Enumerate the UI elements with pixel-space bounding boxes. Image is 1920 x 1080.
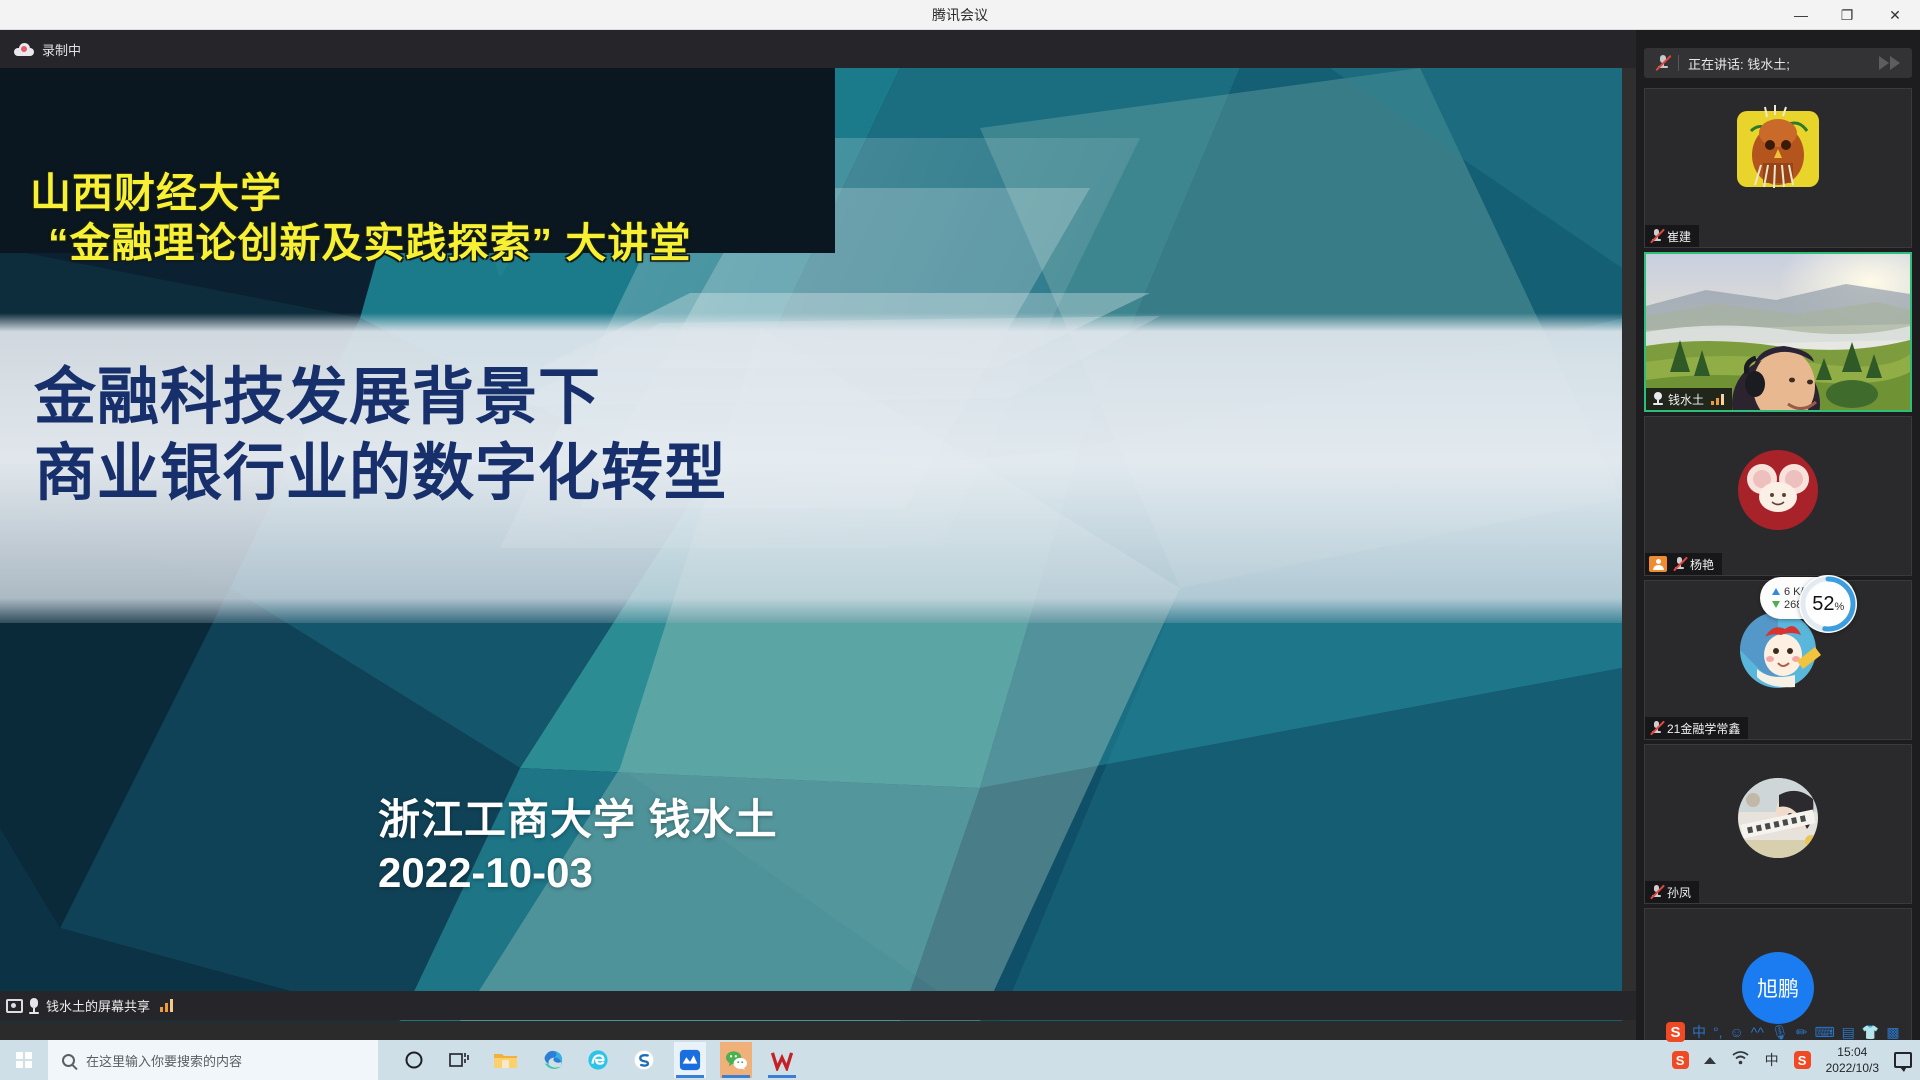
toolbox-icon[interactable]: ▩ [1886, 1025, 1899, 1039]
slide-title-line1: 金融科技发展背景下 [34, 363, 601, 432]
microphone-icon [27, 998, 41, 1014]
avatar [1645, 89, 1911, 247]
participant-tile[interactable]: 崔建 [1644, 88, 1912, 248]
cortana-icon[interactable] [398, 1042, 430, 1078]
participant-badge: 21金融学常鑫 [1645, 717, 1748, 739]
slide-title-line2: 商业银行业的数字化转型 [34, 436, 1134, 512]
windows-logo-icon [16, 1052, 32, 1068]
active-speaker-banner[interactable]: 正在讲话: 钱水土; [1644, 48, 1912, 78]
participant-badge: 杨艳 [1645, 553, 1722, 575]
tencent-meeting-icon[interactable] [674, 1042, 706, 1078]
sogou-browser-icon[interactable] [628, 1042, 660, 1078]
clock-time: 15:04 [1826, 1044, 1879, 1060]
taskbar-icons [398, 1040, 798, 1080]
microphone-muted-icon [1649, 884, 1665, 900]
slide-main-title: 金融科技发展背景下 商业银行业的数字化转型 [34, 360, 1134, 511]
participant-name: 杨艳 [1690, 556, 1714, 573]
close-button[interactable]: ✕ [1870, 0, 1920, 30]
screen-share-icon [6, 999, 23, 1013]
slide-author-name: 浙江工商大学 钱水土 [378, 796, 778, 843]
screen-share-label: 钱水土的屏幕共享 [46, 996, 150, 1015]
cpu-usage-gauge: 52% [1799, 575, 1857, 633]
window-controls: — ❐ ✕ [1778, 0, 1920, 30]
arrow-up-icon [1772, 588, 1780, 595]
voice-input-icon[interactable]: 🎙 [1771, 1025, 1789, 1039]
chevron-up-icon[interactable] [1704, 1057, 1716, 1064]
task-view-icon[interactable] [444, 1042, 476, 1078]
signal-bars-icon [160, 999, 173, 1012]
active-speaker-label: 正在讲话: 钱水土; [1688, 54, 1790, 73]
participant-tile[interactable]: 钱水土 [1644, 252, 1912, 412]
participant-name: 钱水土 [1668, 391, 1704, 408]
clock[interactable]: 15:04 2022/10/3 [1826, 1044, 1879, 1076]
avatar [1645, 417, 1911, 575]
window-title-bar: 腾讯会议 — ❐ ✕ [0, 0, 1920, 30]
presentation-slide: 山西财经大学 “金融理论创新及实践探索” 大讲堂 金融科技发展背景下 商业银行业… [0, 68, 1622, 1021]
wechat-icon[interactable] [720, 1042, 752, 1078]
arrow-down-icon [1772, 601, 1780, 608]
slide-host-line2: “金融理论创新及实践探索” 大讲堂 [48, 218, 930, 268]
video-feed [1646, 254, 1910, 410]
slide-host-line1: 山西财经大学 [30, 170, 282, 216]
participant-name: 崔建 [1667, 228, 1691, 245]
sogou-tray-icon-right[interactable]: S [1794, 1051, 1811, 1069]
microphone-muted-icon [1649, 228, 1665, 244]
participant-name: 孙凤 [1667, 884, 1691, 901]
microphone-muted-icon [1672, 556, 1688, 572]
maximize-button[interactable]: ❐ [1824, 0, 1870, 30]
handwriting-icon[interactable]: ✏ [1796, 1025, 1808, 1039]
network-speed-overlay[interactable]: 6 K/s 268 K/s 52% [1760, 577, 1855, 619]
screen-share-status-bar: 钱水土的屏幕共享 [0, 991, 1636, 1020]
window-title: 腾讯会议 [932, 0, 988, 30]
punctuation-icon[interactable]: °, [1713, 1025, 1723, 1039]
file-explorer-icon[interactable] [490, 1042, 522, 1078]
slide-author-block: 浙江工商大学 钱水土 2022-10-03 [378, 794, 1178, 899]
participant-tile[interactable]: 杨艳 [1644, 416, 1912, 576]
sogou-logo-icon[interactable]: S [1666, 1022, 1685, 1042]
meeting-window: 录制中 [0, 30, 1920, 1050]
system-tray: S 中 S 15:04 2022/10/3 [1672, 1040, 1920, 1080]
ime-mode-icon[interactable]: 中 [1765, 1050, 1779, 1070]
clock-date: 2022/10/3 [1826, 1060, 1879, 1076]
chinese-mode-icon[interactable]: 中 [1692, 1025, 1706, 1039]
participant-badge: 钱水土 [1646, 388, 1732, 410]
participant-badge: 孙凤 [1645, 881, 1699, 903]
expression-icon[interactable]: ^^ [1751, 1025, 1764, 1039]
search-input[interactable]: 在这里输入你要搜索的内容 [48, 1040, 378, 1080]
microphone-icon [1650, 391, 1666, 407]
slide-host-title: 山西财经大学 “金融理论创新及实践探索” 大讲堂 [30, 168, 930, 268]
participant-badge: 崔建 [1645, 225, 1699, 247]
participant-tile[interactable]: 孙凤 [1644, 744, 1912, 904]
emoji-icon[interactable]: ☺ [1730, 1025, 1744, 1039]
skin-icon[interactable]: 👕 [1862, 1025, 1879, 1039]
cards-icon[interactable]: ▤ [1842, 1025, 1855, 1039]
shared-screen-region[interactable]: 录制中 [0, 30, 1636, 1020]
wps-office-icon[interactable] [766, 1042, 798, 1078]
search-icon [62, 1054, 75, 1067]
shared-screen-canvas[interactable]: 山西财经大学 “金融理论创新及实践探索” 大讲堂 金融科技发展背景下 商业银行业… [0, 68, 1622, 1021]
banner-divider [1678, 55, 1679, 71]
windows-taskbar: 在这里输入你要搜索的内容 [0, 1040, 1920, 1080]
sogou-ime-toolbar[interactable]: S 中 °, ☺ ^^ 🎙 ✏ ⌨ ▤ 👕 ▩ [1661, 1020, 1905, 1044]
participant-name: 21金融学常鑫 [1667, 720, 1740, 737]
start-button[interactable] [4, 1044, 44, 1076]
notification-icon[interactable] [1894, 1052, 1912, 1068]
gauge-percent: 52 [1812, 593, 1834, 616]
minimize-button[interactable]: — [1778, 0, 1824, 30]
sogou-tray-icon-left[interactable]: S [1672, 1051, 1689, 1069]
cloud-record-icon [14, 43, 34, 56]
microphone-muted-icon [1654, 54, 1672, 72]
gauge-percent-unit: % [1835, 601, 1845, 613]
recording-bar: 录制中 [0, 30, 1636, 68]
chevron-right-icon[interactable] [1879, 56, 1900, 70]
participants-rail: 正在讲话: 钱水土; [1636, 30, 1920, 1050]
microphone-muted-icon [1649, 720, 1665, 736]
recording-label: 录制中 [42, 40, 81, 59]
host-icon [1649, 556, 1667, 572]
microsoft-edge-icon[interactable] [536, 1042, 568, 1078]
slide-date: 2022-10-03 [378, 847, 1178, 900]
search-placeholder: 在这里输入你要搜索的内容 [86, 1051, 242, 1070]
avatar [1645, 745, 1911, 903]
edge-legacy-icon[interactable] [582, 1042, 614, 1078]
signal-bars-icon [1711, 394, 1724, 405]
gauge-value: 52% [1812, 593, 1844, 616]
soft-keyboard-icon[interactable]: ⌨ [1814, 1025, 1834, 1039]
avatar-initials: 旭鹏 [1757, 973, 1799, 1003]
avatar: 旭鹏 [1742, 952, 1814, 1024]
wifi-icon[interactable] [1731, 1050, 1750, 1070]
